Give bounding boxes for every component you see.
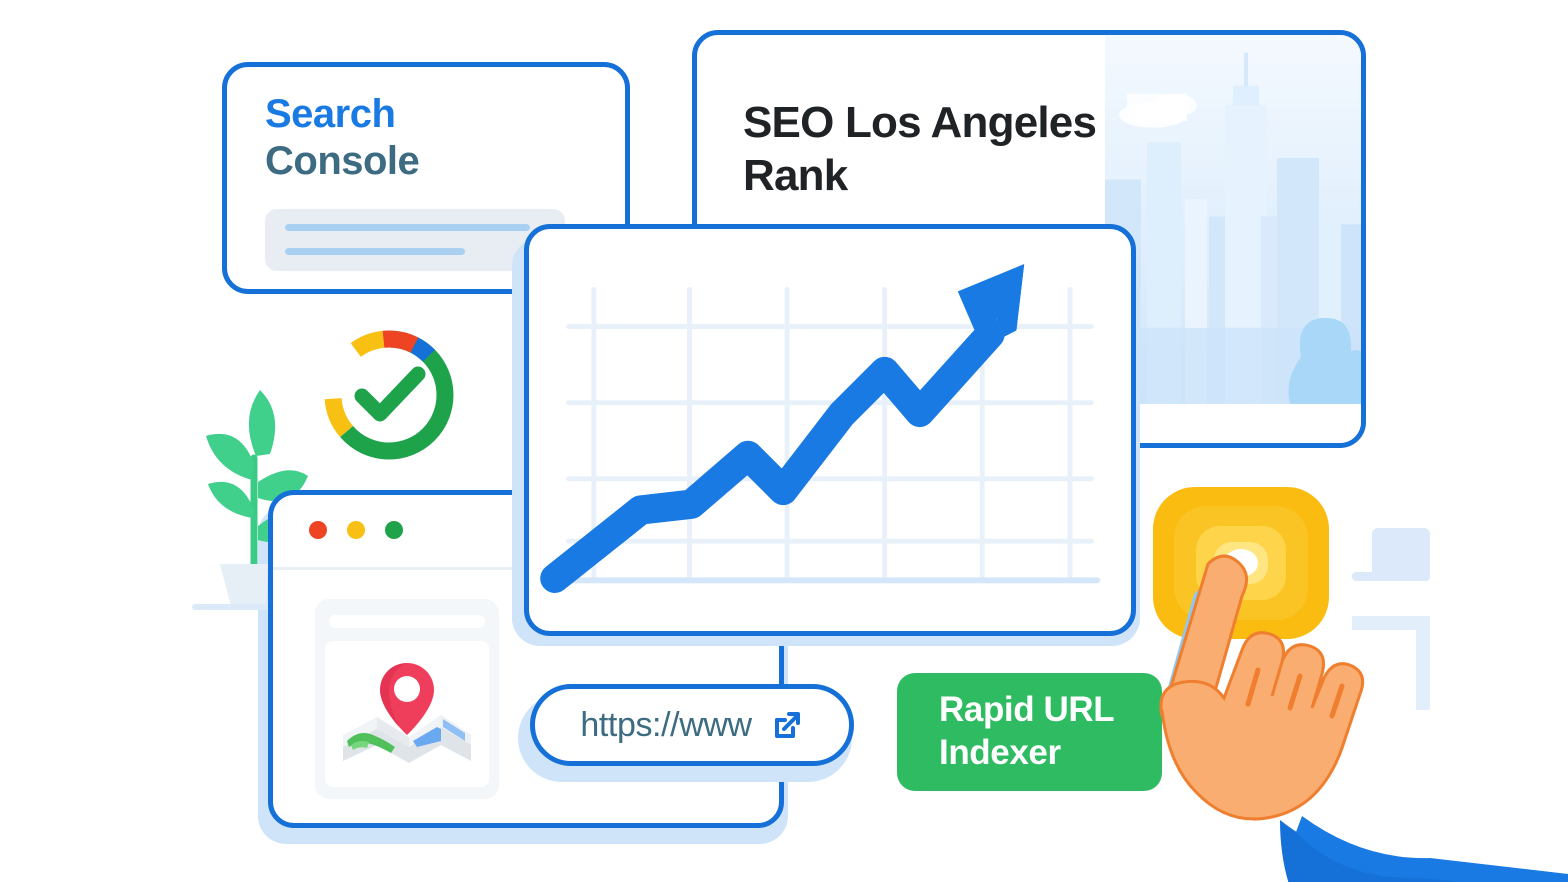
external-link-icon[interactable] — [770, 708, 804, 742]
close-dot-icon[interactable] — [309, 521, 327, 539]
chart-series-rank-trend — [555, 264, 1024, 578]
url-text: https://www — [580, 706, 751, 745]
search-console-title-line2: Console — [265, 138, 419, 185]
rank-chart-card[interactable] — [524, 224, 1136, 636]
browser-traffic-lights — [309, 521, 403, 539]
search-console-title: Search Console — [265, 91, 419, 185]
maximize-dot-icon[interactable] — [385, 521, 403, 539]
minimize-dot-icon[interactable] — [347, 521, 365, 539]
map-with-pin-icon — [337, 649, 477, 779]
rapid-url-indexer-label-line2: Indexer — [939, 732, 1162, 775]
rank-line-chart — [529, 229, 1131, 631]
check-icon — [362, 374, 418, 414]
map-preview-panel[interactable] — [315, 599, 499, 799]
placeholder-line-1 — [285, 224, 530, 231]
seo-rank-title: SEO Los Angeles Rank — [743, 97, 1143, 203]
url-input-pill[interactable]: https://www — [530, 684, 854, 766]
map-panel-titlebar — [329, 615, 485, 628]
rapid-url-indexer-button[interactable]: Rapid URL Indexer — [897, 673, 1162, 791]
pointing-hand-illustration — [1152, 520, 1568, 882]
city-skyline-illustration — [1105, 35, 1361, 443]
placeholder-line-2 — [285, 248, 465, 255]
illustration-canvas: SEO Los Angeles Rank Search Console — [0, 0, 1568, 882]
rapid-url-indexer-label-line1: Rapid URL — [939, 689, 1162, 732]
search-console-title-line1: Search — [265, 91, 419, 138]
status-check-donut-icon — [316, 322, 462, 468]
